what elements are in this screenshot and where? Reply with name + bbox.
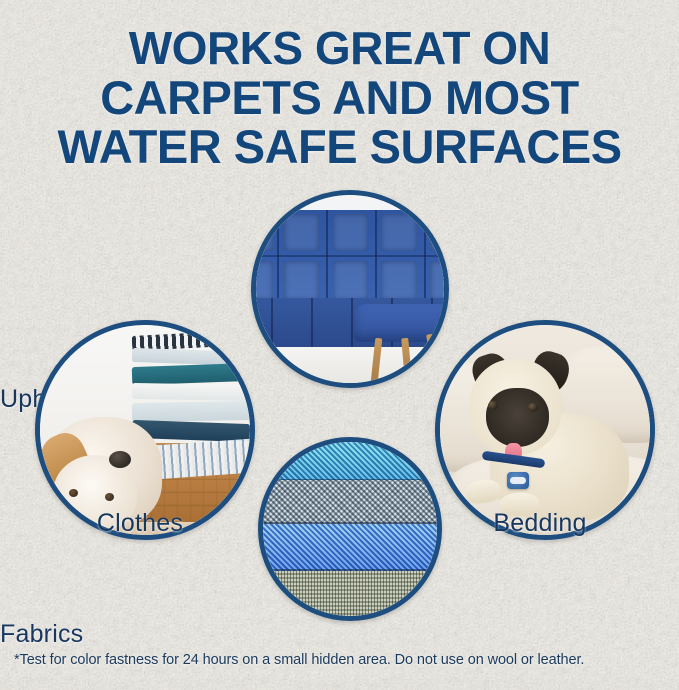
fabrics-photo	[263, 442, 437, 616]
footnote-disclaimer: *Test for color fastness for 24 hours on…	[14, 652, 671, 668]
headline-line-1: WORKS GREAT ON	[0, 24, 679, 73]
fabrics-circle	[258, 437, 442, 621]
headline-line-2: CARPETS AND MOST	[0, 73, 679, 122]
upholstery-circle	[251, 190, 449, 388]
bedding-circle	[435, 320, 655, 540]
headline: WORKS GREAT ON CARPETS AND MOST WATER SA…	[0, 24, 679, 171]
bedding-photo	[440, 325, 650, 535]
upholstery-photo	[256, 195, 444, 383]
clothes-photo	[40, 325, 250, 535]
clothes-circle	[35, 320, 255, 540]
clothes-label: Clothes	[0, 509, 280, 538]
headline-line-3: WATER SAFE SURFACES	[0, 122, 679, 171]
